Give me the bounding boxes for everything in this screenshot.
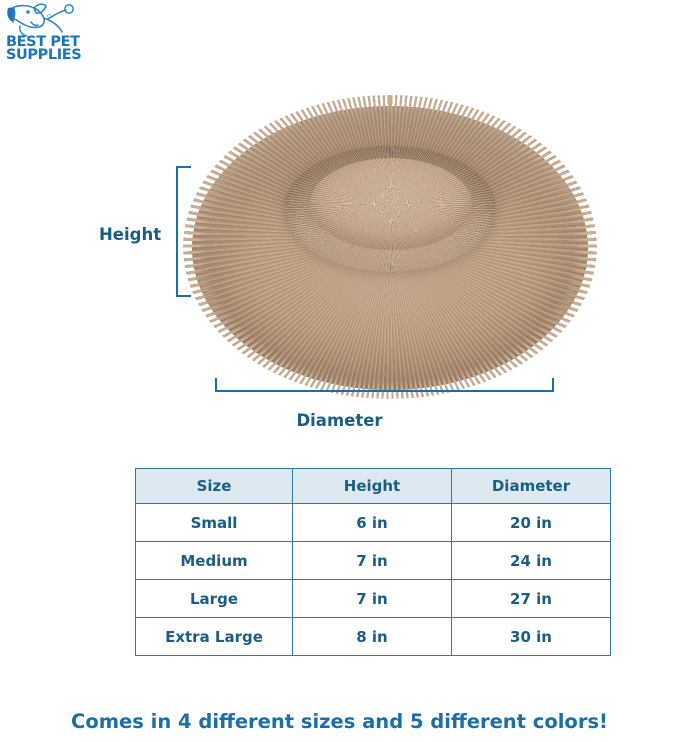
cell-height: 6 in	[293, 504, 452, 542]
table-row: Medium 7 in 24 in	[136, 542, 611, 580]
column-header-size: Size	[136, 469, 293, 504]
height-bracket-icon	[176, 166, 191, 297]
cell-diameter: 27 in	[452, 580, 611, 618]
cell-diameter: 20 in	[452, 504, 611, 542]
cell-diameter: 24 in	[452, 542, 611, 580]
column-header-diameter: Diameter	[452, 469, 611, 504]
table-row: Small 6 in 20 in	[136, 504, 611, 542]
size-chart-table: Size Height Diameter Small 6 in 20 in Me…	[135, 468, 611, 656]
cell-height: 7 in	[293, 580, 452, 618]
cell-size: Extra Large	[136, 618, 293, 656]
cell-size: Medium	[136, 542, 293, 580]
pet-bed-image	[192, 84, 588, 390]
cell-size: Large	[136, 580, 293, 618]
diameter-bracket-icon	[215, 378, 554, 392]
brand-wordmark: BEST PET SUPPLIES	[6, 36, 86, 62]
cell-height: 8 in	[293, 618, 452, 656]
cell-size: Small	[136, 504, 293, 542]
brand-name-line2: SUPPLIES	[6, 49, 86, 62]
table-row: Extra Large 8 in 30 in	[136, 618, 611, 656]
bed-cushion	[310, 158, 472, 250]
table-header-row: Size Height Diameter	[136, 469, 611, 504]
brand-logo: BEST PET SUPPLIES	[4, 2, 88, 72]
table-row: Large 7 in 27 in	[136, 580, 611, 618]
cell-height: 7 in	[293, 542, 452, 580]
cell-diameter: 30 in	[452, 618, 611, 656]
height-label: Height	[99, 225, 161, 244]
column-header-height: Height	[293, 469, 452, 504]
marketing-banner-text: Comes in 4 different sizes and 5 differe…	[0, 710, 679, 733]
diameter-label: Diameter	[0, 411, 679, 430]
